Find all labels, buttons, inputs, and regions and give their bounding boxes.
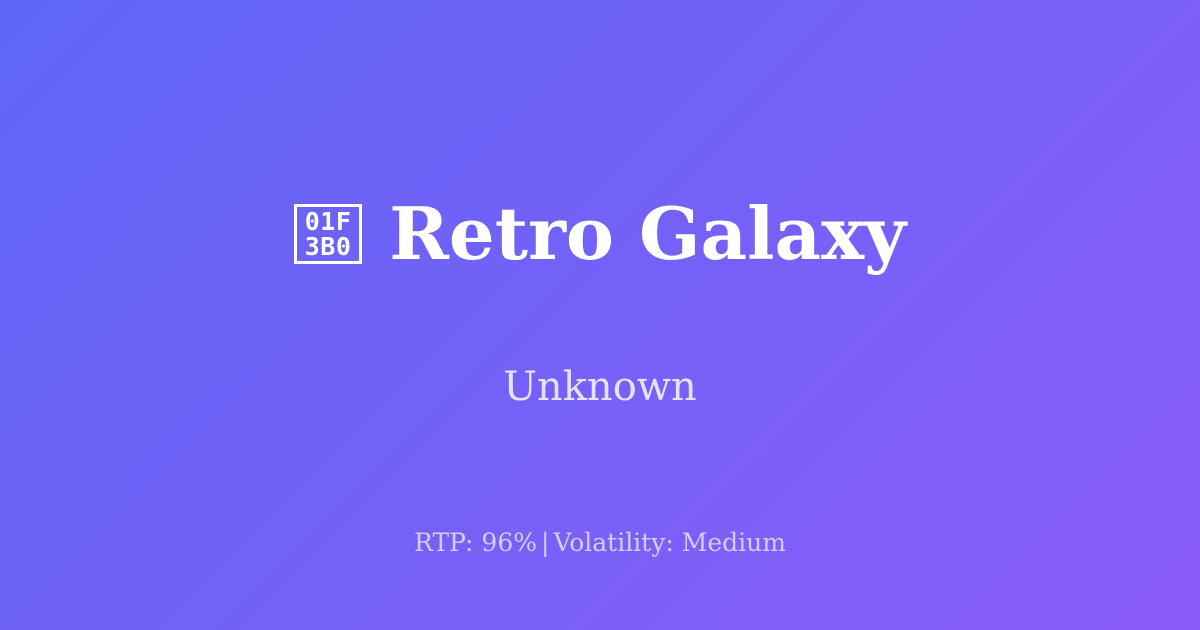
rtp-label: RTP: 96% [414, 528, 537, 557]
title-inner: 01F 3B0 Retro Galaxy [294, 198, 906, 270]
og-card: 01F 3B0 Retro Galaxy Unknown RTP: 96%|Vo… [0, 0, 1200, 630]
slot-machine-icon: 01F 3B0 [294, 204, 362, 264]
provider-label: Unknown [0, 362, 1200, 412]
volatility-label: Volatility: Medium [553, 528, 785, 557]
slot-machine-icon-hex-bottom: 3B0 [305, 234, 352, 259]
slot-machine-icon-hex-top: 01F [305, 209, 352, 234]
game-meta: RTP: 96%|Volatility: Medium [0, 528, 1200, 558]
page-title: Retro Galaxy [389, 198, 906, 270]
meta-separator: | [537, 528, 553, 557]
